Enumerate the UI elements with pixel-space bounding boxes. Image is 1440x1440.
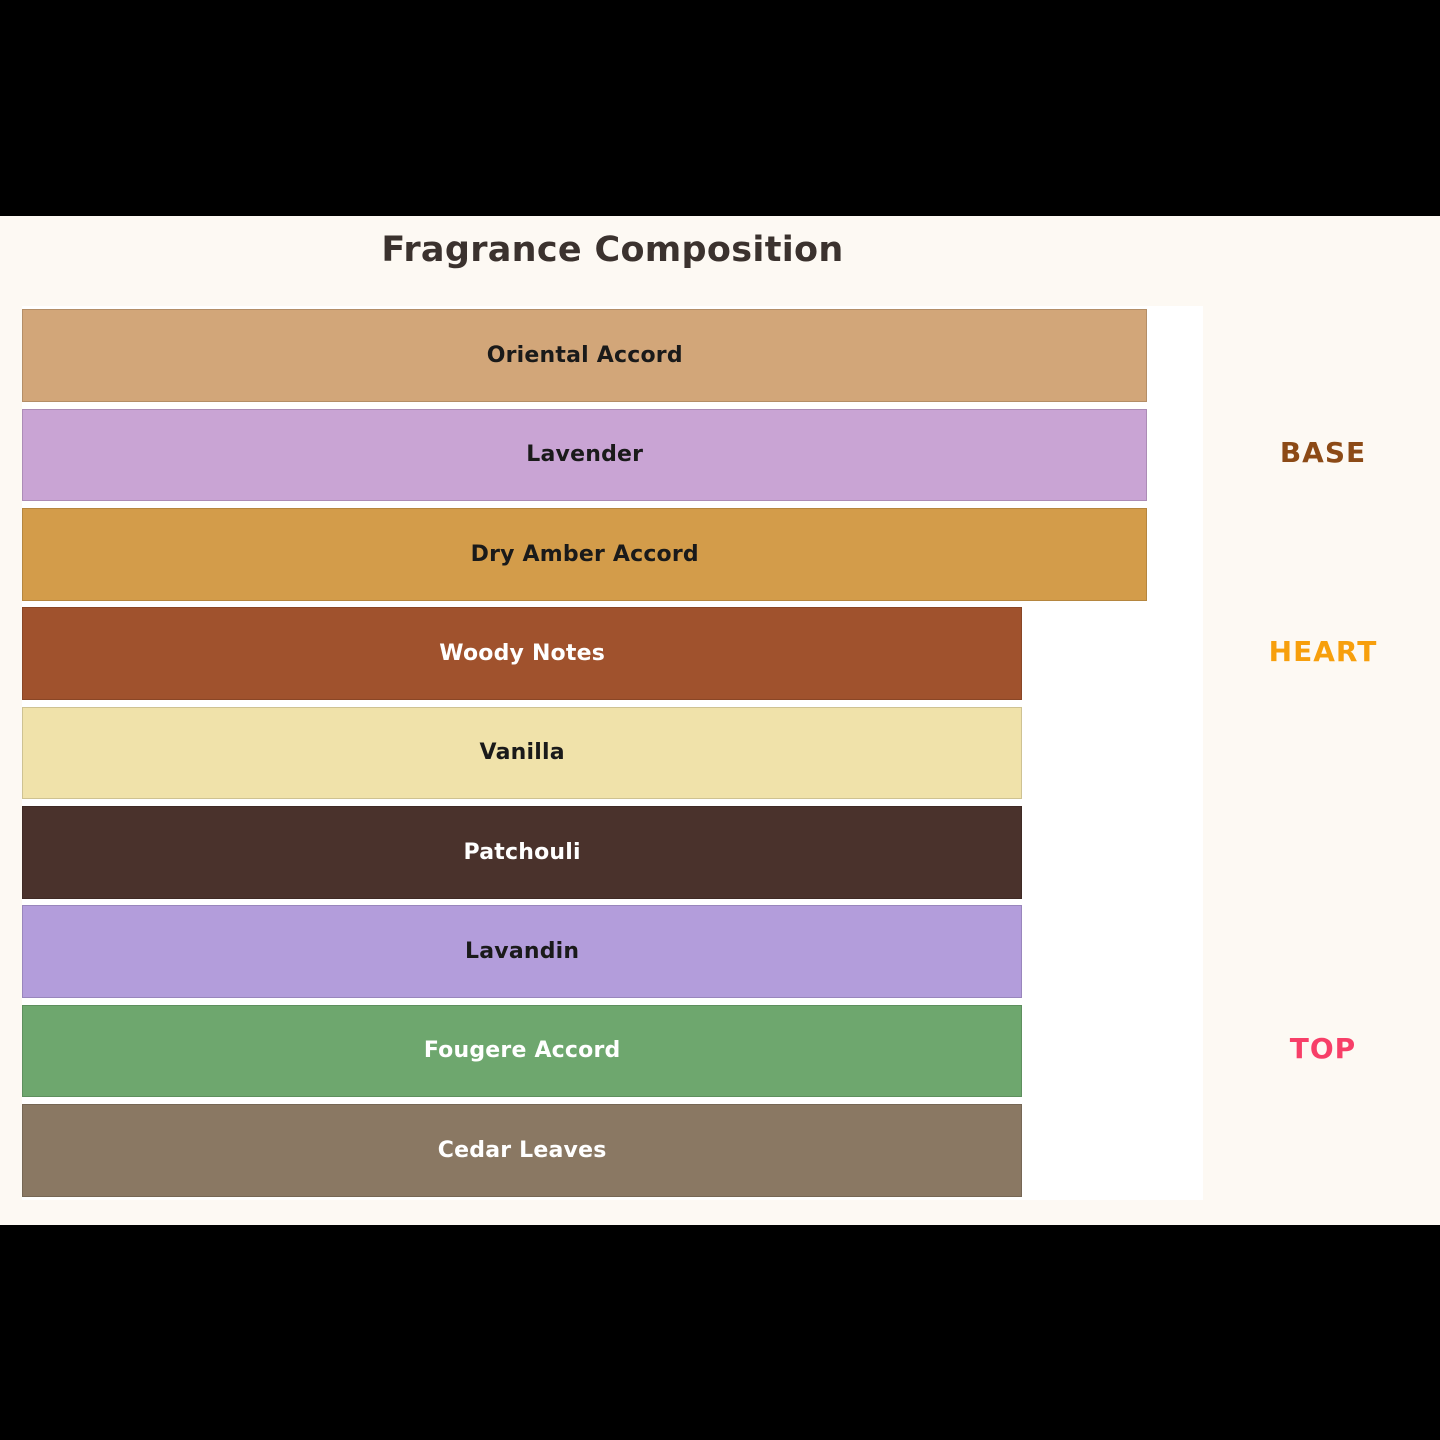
bar-lavandin[interactable]: Lavandin (22, 905, 1022, 998)
stage-label-base: BASE (1218, 436, 1428, 469)
bar-label: Cedar Leaves (438, 1138, 607, 1163)
bar-lavender[interactable]: Lavender (22, 409, 1147, 502)
bar-row: Dry Amber Accord (22, 508, 1203, 601)
bar-row: Vanilla (22, 707, 1203, 800)
letterbox-top (0, 0, 1440, 216)
bar-label: Vanilla (480, 740, 565, 765)
chart-figure: Fragrance Composition Oriental AccordLav… (0, 216, 1440, 1225)
bar-label: Lavandin (465, 939, 579, 964)
bar-row: Lavandin (22, 905, 1203, 998)
bar-row: Cedar Leaves (22, 1104, 1203, 1197)
plot-area: Oriental AccordLavenderDry Amber AccordW… (22, 306, 1203, 1200)
screenshot-root: Fragrance Composition Oriental AccordLav… (0, 0, 1440, 1440)
stage-label-top: TOP (1218, 1032, 1428, 1065)
bar-fougere-accord[interactable]: Fougere Accord (22, 1005, 1022, 1098)
bar-vanilla[interactable]: Vanilla (22, 707, 1022, 800)
stage-label-heart: HEART (1218, 635, 1428, 668)
letterbox-bottom (0, 1225, 1440, 1440)
bar-row: Lavender (22, 409, 1203, 502)
bar-row: Oriental Accord (22, 309, 1203, 402)
bar-row: Fougere Accord (22, 1005, 1203, 1098)
bar-label: Lavender (526, 442, 643, 467)
bar-label: Fougere Accord (424, 1038, 621, 1063)
bar-label: Dry Amber Accord (471, 542, 699, 567)
bar-cedar-leaves[interactable]: Cedar Leaves (22, 1104, 1022, 1197)
bar-label: Oriental Accord (487, 343, 683, 368)
bar-woody-notes[interactable]: Woody Notes (22, 607, 1022, 700)
bar-patchouli[interactable]: Patchouli (22, 806, 1022, 899)
bar-row: Patchouli (22, 806, 1203, 899)
bar-oriental-accord[interactable]: Oriental Accord (22, 309, 1147, 402)
bar-label: Woody Notes (439, 641, 605, 666)
bar-dry-amber-accord[interactable]: Dry Amber Accord (22, 508, 1147, 601)
bar-label: Patchouli (464, 840, 581, 865)
chart-title: Fragrance Composition (0, 230, 1225, 270)
bar-row: Woody Notes (22, 607, 1203, 700)
